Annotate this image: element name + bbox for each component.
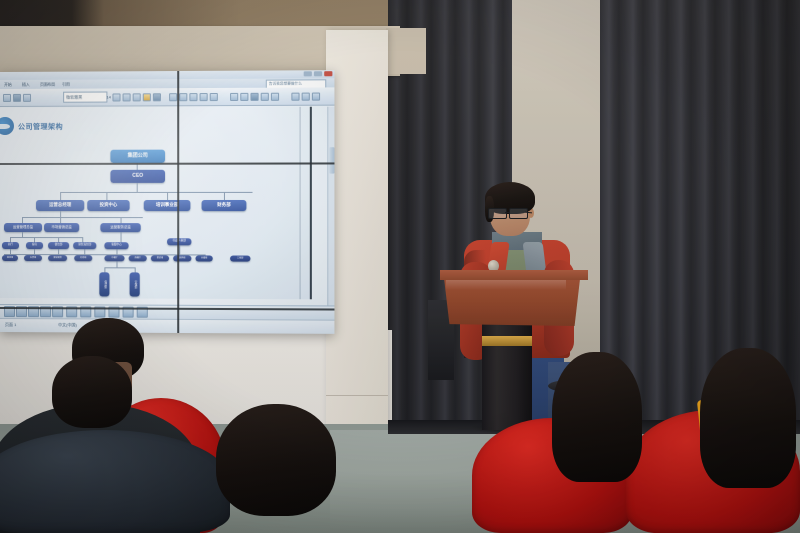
align-center-icon[interactable]	[200, 93, 208, 101]
paste-icon[interactable]	[3, 93, 11, 101]
connector	[84, 249, 85, 254]
lens-left	[488, 208, 507, 219]
font-color-icon[interactable]	[153, 93, 161, 101]
org-node-l4-1[interactable]: 前厅	[2, 242, 19, 249]
connector	[167, 192, 168, 200]
bold-icon[interactable]	[113, 93, 121, 101]
connector	[10, 249, 11, 254]
org-node-l4-3[interactable]: 餐饮部	[48, 242, 69, 249]
status-bar[interactable]	[0, 318, 334, 334]
menu-item-insert[interactable]: 插入	[22, 82, 29, 88]
style-normal-icon[interactable]	[230, 92, 238, 100]
org-node-l5-3[interactable]: 客房服务	[48, 255, 67, 261]
connector	[34, 249, 35, 254]
connector	[179, 245, 180, 254]
audience-head-4	[552, 352, 642, 482]
org-node-l5-10[interactable]: 工程部	[230, 256, 250, 262]
style-heading-icon[interactable]	[240, 92, 248, 100]
org-node-l5-5[interactable]: 中餐厅	[104, 255, 124, 261]
org-node-l6-2[interactable]: 安保组	[130, 272, 140, 296]
select-icon[interactable]	[312, 92, 320, 100]
org-node-l5-6[interactable]: 西餐厅	[129, 255, 147, 261]
lens-right	[509, 208, 528, 219]
cut-icon[interactable]	[13, 93, 21, 101]
org-node-l4-5[interactable]: 客服中心	[104, 242, 128, 249]
connector	[224, 192, 225, 200]
minimize-icon[interactable]	[304, 71, 312, 76]
org-node-group[interactable]: 集团公司	[110, 150, 165, 163]
shading-icon[interactable]	[261, 92, 269, 100]
connector	[106, 192, 107, 200]
org-node-marketing[interactable]: 市场营销总监	[44, 223, 79, 232]
org-node-l5-9[interactable]: 仓储组	[195, 255, 212, 261]
window-controls[interactable]	[304, 71, 333, 76]
connector	[58, 249, 59, 254]
org-node-l5-8[interactable]: 采购组	[173, 255, 191, 261]
connector	[116, 249, 117, 254]
number-list-icon[interactable]	[179, 93, 187, 101]
font-name-input[interactable]: 微软雅黑	[63, 91, 107, 102]
org-node-ops-support[interactable]: 运营服务总监	[100, 223, 140, 232]
connector	[104, 267, 134, 268]
org-node-finance-dept[interactable]: 财务部	[202, 200, 247, 211]
find-icon[interactable]	[291, 92, 299, 100]
org-node-ceo[interactable]: CEO	[110, 170, 165, 183]
menu-item-layout[interactable]: 页面布局	[40, 82, 55, 88]
org-node-l5-2[interactable]: 礼宾组	[24, 255, 42, 261]
underline-icon[interactable]	[133, 93, 141, 101]
org-node-l5-4[interactable]: 布草组	[74, 255, 92, 261]
connector	[137, 183, 138, 192]
ceiling-beam-return	[386, 28, 426, 74]
org-node-l6-1[interactable]: 保洁组	[99, 272, 109, 296]
org-chart: 集团公司 CEO 运营总经理 投资中心 培训事业部 财务部	[0, 107, 310, 305]
connector	[22, 217, 143, 218]
audience-chair-4	[0, 430, 230, 533]
org-node-training-div[interactable]: 培训事业部	[144, 200, 191, 211]
panel-seam	[326, 395, 388, 396]
connector	[60, 192, 61, 200]
copy-icon[interactable]	[23, 93, 31, 101]
align-left-icon[interactable]	[189, 93, 197, 101]
style-title-icon[interactable]	[250, 92, 258, 100]
lcd-video-wall[interactable]: 开始 插入 页面布局 引用 告诉我您想要做什么 微软雅黑 14	[0, 70, 334, 334]
status-language-label: 中文(中国)	[58, 322, 77, 328]
ribbon-toolbar[interactable]	[0, 87, 334, 107]
replace-icon[interactable]	[302, 92, 310, 100]
maximize-icon[interactable]	[314, 71, 322, 76]
menu-item-reference[interactable]: 引用	[62, 82, 69, 88]
close-icon[interactable]	[324, 71, 332, 76]
status-page-label: 页面 1	[5, 322, 16, 328]
audience-head-5	[700, 348, 796, 488]
borders-icon[interactable]	[271, 92, 279, 100]
org-node-l5-7[interactable]: 宴会组	[151, 255, 169, 261]
glasses-bridge	[505, 212, 509, 213]
org-node-ops-gm[interactable]: 运营总经理	[36, 200, 84, 211]
menu-item-start[interactable]: 开始	[4, 82, 11, 88]
org-node-l4-6[interactable]: 行政人事部	[167, 238, 191, 245]
audience-head-3	[216, 404, 336, 516]
org-node-l5-1[interactable]: 接待组	[2, 255, 18, 261]
connector	[10, 237, 82, 238]
lectern-top-surface	[440, 270, 588, 280]
word-application-window[interactable]: 开始 插入 页面布局 引用 告诉我您想要做什么 微软雅黑 14	[0, 70, 334, 334]
connector	[121, 232, 122, 242]
line-spacing-icon[interactable]	[210, 92, 218, 100]
bezel-vertical-1	[177, 71, 179, 333]
vertical-scrollbar[interactable]	[327, 107, 334, 334]
org-node-l4-2[interactable]: 客房	[26, 242, 43, 249]
lectern-highlight	[446, 280, 566, 290]
lectern-gold-band	[482, 336, 532, 346]
italic-icon[interactable]	[123, 93, 131, 101]
eyeglasses-icon	[488, 208, 532, 217]
highlight-icon[interactable]	[143, 93, 151, 101]
audience-head-2	[52, 356, 132, 428]
ribbon-group-clipboard[interactable]	[3, 91, 31, 104]
ribbon-group-font[interactable]: 14	[106, 90, 161, 103]
screen-side-panel	[326, 30, 388, 450]
ribbon-group-editing[interactable]	[291, 89, 320, 102]
scrollbar-thumb[interactable]	[329, 147, 334, 173]
org-node-l4-4[interactable]: 销售策划部	[73, 242, 96, 249]
org-node-ops-mgmt[interactable]: 运营管理总监	[4, 223, 42, 232]
conference-hall-photo: 开始 插入 页面布局 引用 告诉我您想要做什么 微软雅黑 14	[0, 0, 800, 533]
font-size-value[interactable]: 14	[106, 94, 110, 99]
org-node-invest-center[interactable]: 投资中心	[87, 200, 129, 211]
ribbon-group-styles[interactable]	[230, 90, 279, 103]
bullet-list-icon[interactable]	[169, 93, 177, 101]
